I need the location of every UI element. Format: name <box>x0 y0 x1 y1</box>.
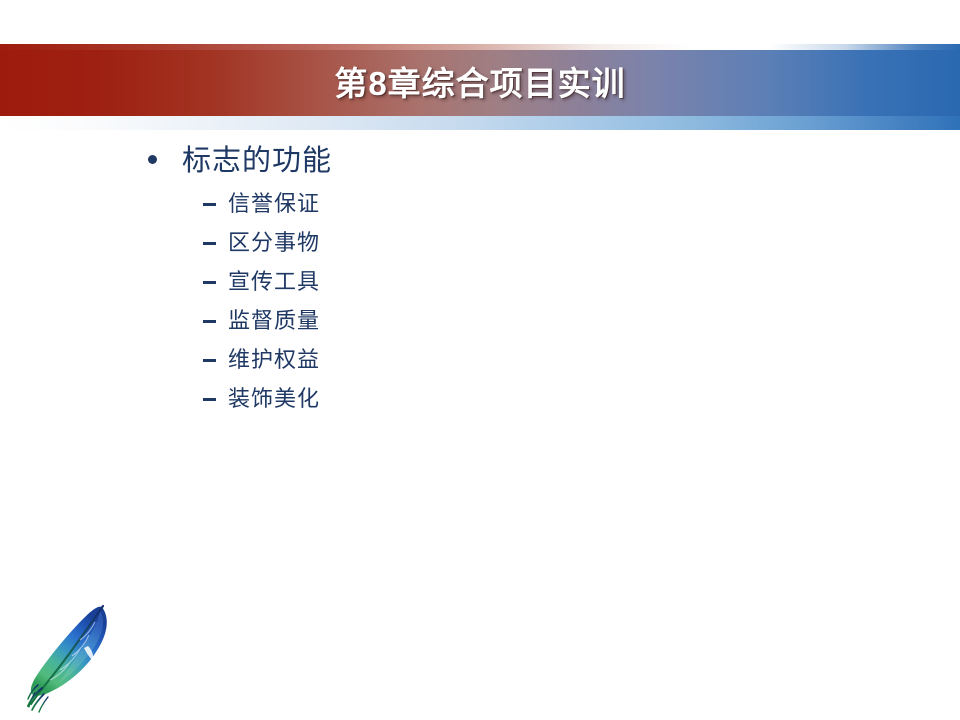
list-item-label: 区分事物 <box>228 230 320 256</box>
list-item-level2: 区分事物 <box>0 223 960 262</box>
feather-vane <box>31 607 107 696</box>
dash-bullet-icon <box>203 242 216 245</box>
list-item-level1: 标志的功能 <box>0 138 960 184</box>
feather-logo <box>26 600 126 715</box>
list-item-label: 监督质量 <box>228 308 320 334</box>
dot-bullet-icon <box>148 155 157 164</box>
title-banner: 第8章综合项目实训 <box>0 44 960 130</box>
list-item-label: 宣传工具 <box>228 269 320 295</box>
content-body: 标志的功能 信誉保证 区分事物 宣传工具 监督质量 维护权益 装饰美化 <box>0 138 960 418</box>
dash-bullet-icon <box>203 203 216 206</box>
list-item-level2: 维护权益 <box>0 340 960 379</box>
list-item-level2: 监督质量 <box>0 301 960 340</box>
list-item-label: 标志的功能 <box>182 144 332 178</box>
dash-bullet-icon <box>203 359 216 362</box>
list-item-label: 维护权益 <box>228 347 320 373</box>
slide-title: 第8章综合项目实训 <box>0 50 960 118</box>
list-item-level2: 宣传工具 <box>0 262 960 301</box>
dash-bullet-icon <box>203 281 216 284</box>
list-item-label: 信誉保证 <box>228 191 320 217</box>
dash-bullet-icon <box>203 320 216 323</box>
list-item-level2: 装饰美化 <box>0 379 960 418</box>
banner-bottom-accent-strip <box>0 116 960 130</box>
dash-bullet-icon <box>203 398 216 401</box>
list-item-label: 装饰美化 <box>228 386 320 412</box>
slide-canvas: 第8章综合项目实训 标志的功能 信誉保证 区分事物 宣传工具 监督质量 维护权益 <box>0 0 960 720</box>
list-item-level2: 信誉保证 <box>0 184 960 223</box>
